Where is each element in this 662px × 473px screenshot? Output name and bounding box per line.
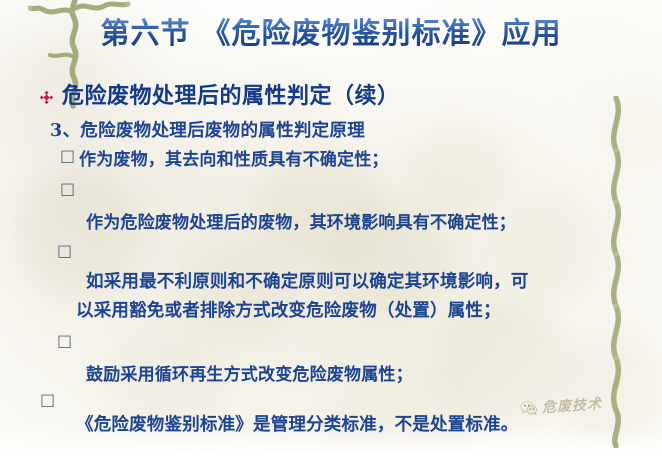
body-section-heading: 3、危险废物处理后废物的属性判定原理: [50, 117, 365, 142]
watermark-text: 危废技术: [541, 394, 602, 418]
list-item: 《危险废物鉴别标准》是管理分类标准，不是处置标准。: [76, 411, 519, 436]
list-item-line-2: 以采用豁免或者排除方式改变危险废物（处置）属性；: [76, 297, 501, 322]
slide-subtitle-text: 危险废物处理后的属性判定（续）: [62, 78, 400, 110]
list-item-marker: □: [60, 179, 75, 198]
list-item: 鼓励采用循环再生方式改变危险废物属性；: [86, 360, 413, 385]
slide-subtitle: 危险废物处理后的属性判定（续）: [40, 78, 400, 110]
slide-title: 第六节 《危险废物鉴别标准》应用: [0, 17, 662, 50]
list-item-marker: □: [60, 146, 75, 165]
list-item: 作为废物，其去向和性质具有不确定性；: [79, 145, 389, 170]
plant-stem-icon: [596, 96, 642, 448]
presentation-slide: 第六节 《危险废物鉴别标准》应用 危险废物处理后的属性判定（续） 3、危险废物处…: [0, 0, 662, 473]
list-item-marker: □: [57, 241, 72, 260]
wechat-icon: [520, 399, 538, 417]
list-item-marker: □: [40, 390, 55, 409]
list-item-line-1: 如采用最不利原则和不确定原则可以确定其环境影响，可: [86, 268, 529, 293]
watermark: 危废技术: [519, 394, 602, 419]
list-item: 作为危险废物处理后的废物，其环境影响具有不确定性；: [86, 208, 516, 233]
list-item-marker: □: [57, 331, 72, 350]
diamond-bullet-icon: [40, 89, 53, 102]
